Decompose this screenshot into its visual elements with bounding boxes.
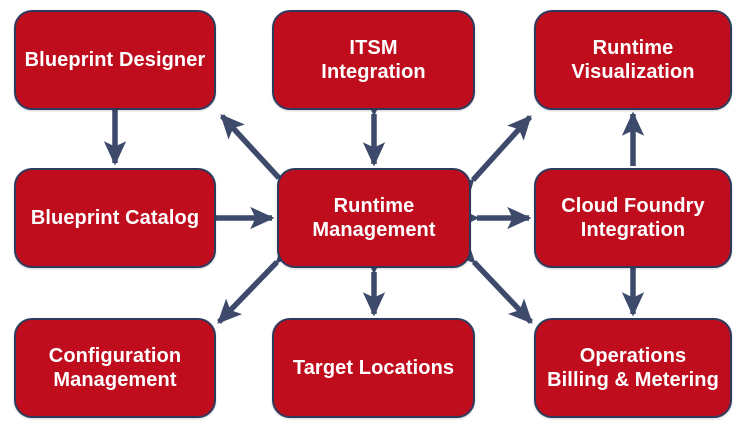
node-label: Cloud Foundry Integration — [553, 194, 713, 243]
node-label: Target Locations — [285, 356, 462, 380]
node-blueprint-catalog[interactable]: Blueprint Catalog — [14, 168, 216, 268]
node-blueprint-designer[interactable]: Blueprint Designer — [14, 10, 216, 110]
node-target-locations[interactable]: Target Locations — [272, 318, 475, 418]
node-label: Configuration Management — [41, 344, 189, 393]
connector-runtime-operations — [474, 262, 531, 322]
node-label: ITSM Integration — [313, 36, 433, 85]
node-label: Runtime Visualization — [563, 36, 702, 85]
architecture-diagram: Blueprint Designer ITSM Integration Runt… — [0, 0, 745, 434]
node-operations-billing-metering[interactable]: Operations Billing & Metering — [534, 318, 732, 418]
node-runtime-management[interactable]: Runtime Management — [277, 168, 471, 268]
node-label: Blueprint Designer — [17, 48, 214, 72]
node-itsm-integration[interactable]: ITSM Integration — [272, 10, 475, 110]
node-label: Runtime Management — [304, 194, 443, 243]
node-label: Operations Billing & Metering — [539, 344, 727, 393]
node-runtime-visualization[interactable]: Runtime Visualization — [534, 10, 732, 110]
connector-runtime-configuration — [219, 262, 277, 322]
node-label: Blueprint Catalog — [23, 206, 207, 230]
node-cloud-foundry-integration[interactable]: Cloud Foundry Integration — [534, 168, 732, 268]
node-configuration-management[interactable]: Configuration Management — [14, 318, 216, 418]
connector-runtime-visualization — [473, 117, 530, 180]
connector-runtime-to-designer — [222, 116, 279, 178]
